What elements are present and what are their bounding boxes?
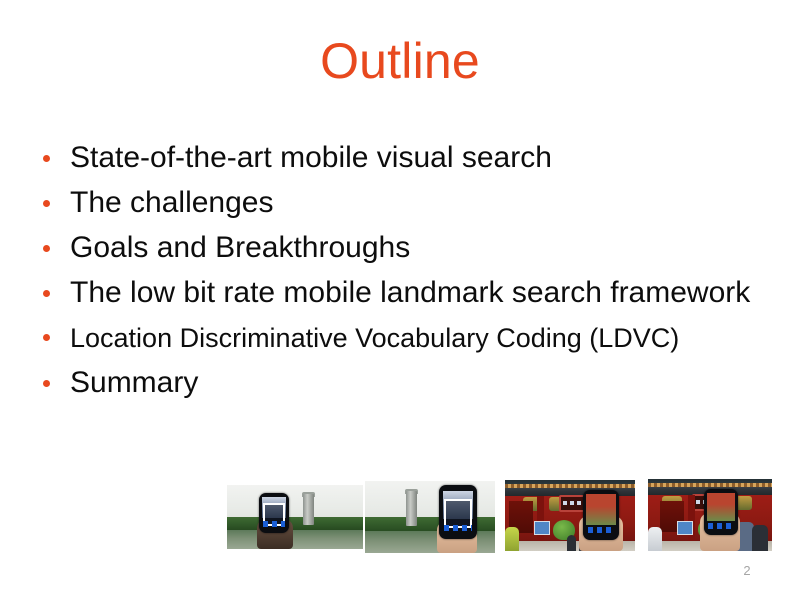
photo-pagoda-lake-1 xyxy=(227,485,363,549)
photo-strip xyxy=(225,474,777,556)
list-item-label: The low bit rate mobile landmark search … xyxy=(70,276,750,309)
bullet-dot-icon xyxy=(43,155,50,162)
person xyxy=(752,525,768,551)
phone-keypad xyxy=(263,521,285,527)
list-item: Goals and Breakthroughs xyxy=(40,229,770,274)
pagoda-tower xyxy=(303,494,314,525)
phone-viewfinder-box xyxy=(444,499,471,528)
list-item-label: The challenges xyxy=(70,186,273,219)
phone-keypad xyxy=(588,527,615,533)
photo-pagoda-lake-2 xyxy=(365,481,495,553)
list-item: State-of-the-art mobile visual search xyxy=(40,139,770,184)
bullet-dot-icon xyxy=(43,290,50,297)
list-item: The challenges xyxy=(40,184,770,229)
info-sign xyxy=(534,521,550,535)
list-item: Location Discriminative Vocabulary Codin… xyxy=(40,319,770,364)
slide: Outline State-of-the-art mobile visual s… xyxy=(0,0,800,599)
water-layer xyxy=(227,530,363,549)
person xyxy=(648,527,662,551)
bullet-dot-icon xyxy=(43,334,50,341)
roof-edge-trim xyxy=(648,483,772,487)
phone-keypad xyxy=(444,525,472,531)
phone xyxy=(704,489,738,535)
list-item: The low bit rate mobile landmark search … xyxy=(40,274,770,319)
outline-bullet-list: State-of-the-art mobile visual search Th… xyxy=(40,139,770,409)
bullet-dot-icon xyxy=(43,245,50,252)
photo-temple-2 xyxy=(648,479,772,551)
bullet-dot-icon xyxy=(43,380,50,387)
info-sign xyxy=(677,521,693,535)
phone xyxy=(259,493,289,533)
bullet-dot-icon xyxy=(43,200,50,207)
page-number: 2 xyxy=(735,563,759,578)
pagoda-tower xyxy=(406,491,417,526)
list-item-label: Location Discriminative Vocabulary Codin… xyxy=(70,323,679,353)
person xyxy=(567,535,576,551)
list-item-label: Summary xyxy=(70,366,198,399)
phone-screen xyxy=(586,494,616,525)
list-item-label: State-of-the-art mobile visual search xyxy=(70,141,552,174)
roof-edge-trim xyxy=(505,484,635,488)
list-item-label: Goals and Breakthroughs xyxy=(70,231,410,264)
phone-keypad xyxy=(708,523,733,529)
phone-screen xyxy=(707,493,736,522)
phone xyxy=(439,485,477,539)
phone xyxy=(583,490,619,540)
photo-temple-1 xyxy=(505,480,635,551)
list-item: Summary xyxy=(40,364,770,409)
page-title: Outline xyxy=(0,34,800,88)
person xyxy=(505,527,519,551)
